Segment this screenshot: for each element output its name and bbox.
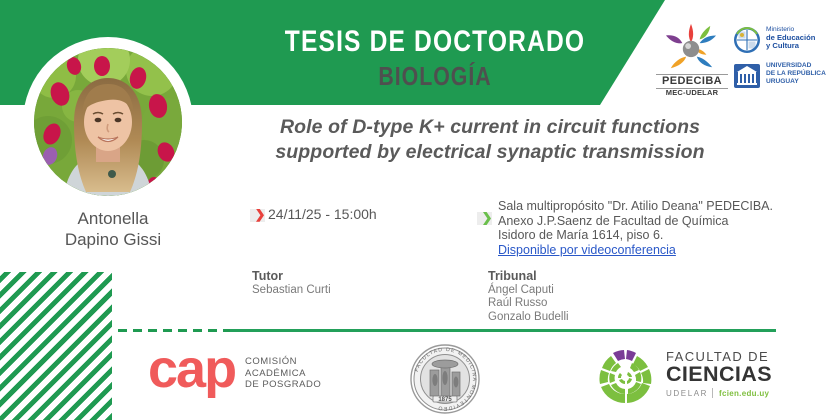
page-kicker: TESIS DE DOCTORADO [263,27,607,57]
tribunal-member: Ángel Caputi [488,284,569,297]
cap-logo: cap COMISIÓN ACADÉMICA DE POSGRADO [148,348,348,404]
discipline-label: BIOLOGÍA [263,63,607,89]
avatar [28,42,188,202]
pedeciba-logo: PEDECIBA MEC-UDELAR [648,22,734,96]
speaker-photo [34,48,182,196]
title-line-2: supported by electrical synaptic transmi… [205,140,775,165]
tribunal-member: Gonzalo Budelli [488,311,569,324]
poster-canvas: TESIS DE DOCTORADO BIOLOGÍA Role of D-ty… [0,0,840,420]
fcien-website: fcien.edu.uy [719,389,769,398]
mec-wordmark: Ministerio de Educación y Cultura [766,26,815,51]
event-datetime: 24/11/25 - 15:00h [250,205,377,223]
speaker-name: Antonella Dapino Gissi [18,208,208,250]
fcien-line-2: CIENCIAS [666,363,772,386]
udelar-line-3: URUGUAY [766,78,826,86]
page-title: Role of D-type K+ current in circuit fun… [205,115,775,165]
mec-line-3: y Cultura [766,42,815,50]
title-line-1: Role of D-type K+ current in circuit fun… [205,115,775,140]
mec-logo: Ministerio de Educación y Cultura [733,26,833,56]
udelar-logo: UNIVERSIDAD DE LA REPÚBLICA URUGUAY [733,62,833,92]
svg-text:1875: 1875 [438,397,452,403]
cap-subtitle: COMISIÓN ACADÉMICA DE POSGRADO [245,356,321,391]
pedeciba-name: PEDECIBA [656,74,728,89]
udelar-wordmark: UNIVERSIDAD DE LA REPÚBLICA URUGUAY [766,62,826,87]
venue-line-3: Isidoro de María 1614, piso 6. [498,228,827,243]
tutor-block: Tutor Sebastian Curti [252,269,331,297]
nautilus-spiral-icon [594,346,656,406]
cap-line-2: ACADÉMICA [245,368,321,380]
diagonal-stripes-decoration [0,272,112,420]
chevron-right-icon-red [250,209,265,222]
divider-dashed [118,329,230,332]
pedeciba-subtitle: MEC-UDELAR [656,89,728,97]
tutor-heading: Tutor [252,269,331,284]
uruguay-coat-of-arms-icon [733,26,761,54]
venue-line-1: Sala multipropósito "Dr. Atilio Deana" P… [498,199,827,214]
speaker-name-line-2: Dapino Gissi [18,229,208,250]
speaker-name-line-1: Antonella [18,208,208,229]
event-venue: Sala multipropósito "Dr. Atilio Deana" P… [477,199,827,257]
tribunal-member: Raúl Russo [488,297,569,310]
udelar-line-1: UNIVERSIDAD [766,62,826,70]
tribunal-block: Tribunal Ángel Caputi Raúl Russo Gonzalo… [488,269,569,324]
tutor-member: Sebastian Curti [252,284,331,297]
cap-wordmark: cap [148,342,235,396]
facultad-medicina-seal: FACULTAD DE MEDICINA MONTEVIDEO 1875 [408,342,482,416]
fcien-udelar-label: UDELAR [666,389,708,398]
chevron-right-icon-green [477,212,492,225]
datetime-text: 24/11/25 - 15:00h [268,206,377,222]
udelar-line-2: DE LA REPÚBLICA [766,70,826,78]
videoconference-link[interactable]: Disponible por videoconferencia [498,243,676,257]
facultad-ciencias-logo: FACULTAD DE CIENCIAS UDELAR fcien.edu.uy [594,344,824,410]
udelar-building-icon [733,62,761,90]
tribunal-heading: Tribunal [488,269,569,284]
venue-line-2: Anexo J.P.Saenz de Facultad de Química [498,214,827,229]
pedeciba-star-icon [662,22,720,74]
divider-solid [230,329,776,332]
pedeciba-wordmark: PEDECIBA MEC-UDELAR [656,74,728,96]
cap-line-1: COMISIÓN [245,356,321,368]
cap-line-3: DE POSGRADO [245,379,321,391]
fcien-divider [712,388,713,398]
